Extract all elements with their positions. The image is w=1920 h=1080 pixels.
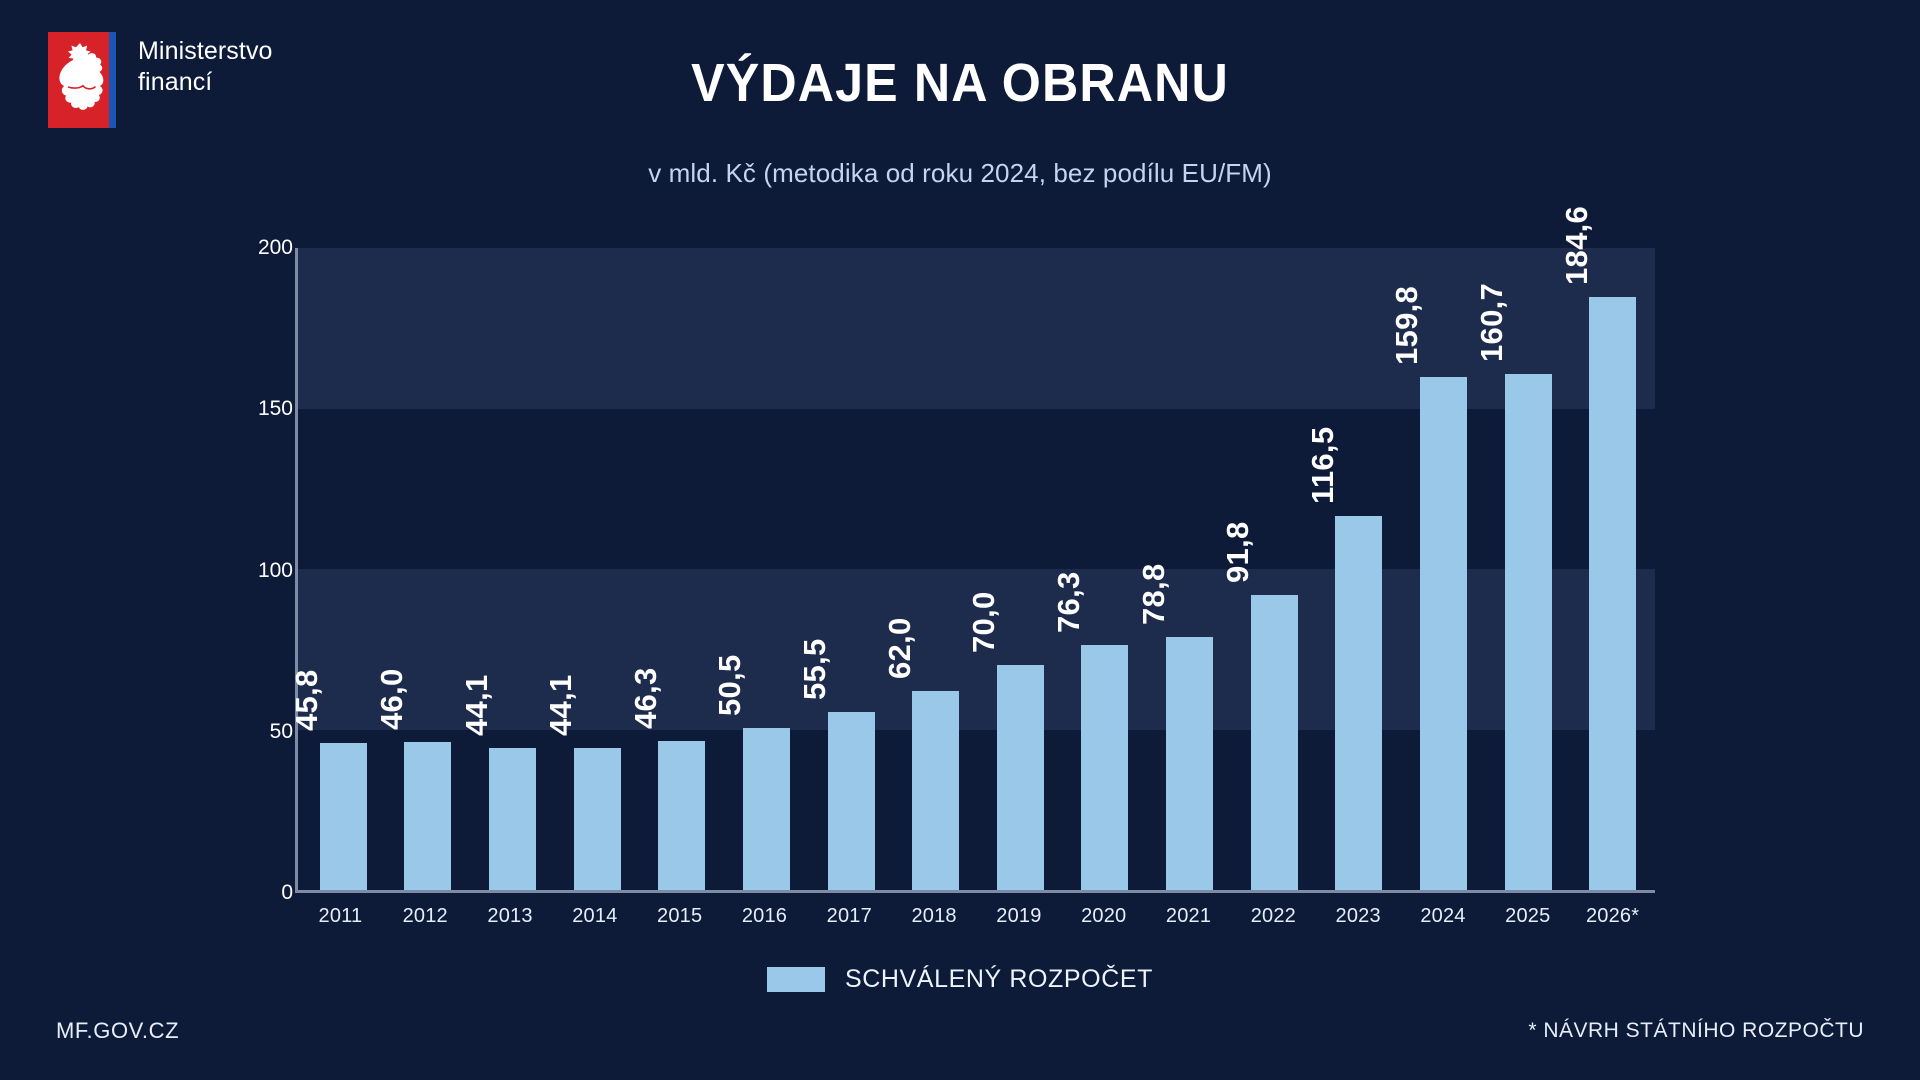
- bar[interactable]: 44,1: [489, 748, 536, 890]
- bar-value-label: 50,5: [730, 685, 766, 747]
- bar-slot: 91,8: [1232, 248, 1317, 890]
- chart-legend: SCHVÁLENÝ ROZPOČET: [0, 965, 1920, 994]
- bar[interactable]: 46,0: [404, 742, 451, 890]
- bar-value-label: 78,8: [1154, 594, 1190, 656]
- bar-value-label: 55,5: [815, 669, 851, 731]
- x-axis-tick: 2016: [722, 905, 807, 928]
- bar[interactable]: 62,0: [912, 691, 959, 890]
- bar-value-label: 46,0: [392, 700, 428, 762]
- plot-area: 45,846,044,144,146,350,555,562,070,076,3…: [295, 248, 1655, 893]
- bar-value-label: 70,0: [984, 623, 1020, 685]
- bar[interactable]: 184,6: [1589, 297, 1636, 890]
- x-axis-tick: 2018: [892, 905, 977, 928]
- chart-plot: 45,846,044,144,146,350,555,562,070,076,3…: [295, 248, 1655, 893]
- bar-slot: 46,0: [386, 248, 471, 890]
- bar-series: 45,846,044,144,146,350,555,562,070,076,3…: [301, 248, 1655, 890]
- x-axis-labels: 2011201220132014201520162017201820192020…: [298, 905, 1655, 928]
- bar-value-label: 45,8: [307, 700, 343, 762]
- bar[interactable]: 160,7: [1505, 374, 1552, 890]
- legend-label: SCHVÁLENÝ ROZPOČET: [845, 965, 1153, 994]
- bar[interactable]: 116,5: [1335, 516, 1382, 890]
- bar-value-label: 91,8: [1238, 553, 1274, 615]
- page-subtitle: v mld. Kč (metodika od roku 2024, bez po…: [0, 158, 1920, 189]
- x-axis-tick: 2014: [552, 905, 637, 928]
- bar[interactable]: 45,8: [320, 743, 367, 890]
- bar-slot: 62,0: [893, 248, 978, 890]
- bar[interactable]: 78,8: [1166, 637, 1213, 890]
- bar-value-label: 116,5: [1323, 465, 1359, 542]
- defense-spending-chart-slide: Ministerstvo financí VÝDAJE NA OBRANU v …: [0, 0, 1920, 1080]
- footer-website: MF.GOV.CZ: [56, 1018, 179, 1044]
- y-axis-tick: 0: [281, 881, 293, 905]
- bar-slot: 184,6: [1570, 248, 1655, 890]
- bar-value-label: 76,3: [1069, 602, 1105, 664]
- bar[interactable]: 159,8: [1420, 377, 1467, 890]
- bar-value-label: 160,7: [1492, 323, 1528, 402]
- bar[interactable]: 91,8: [1251, 595, 1298, 890]
- bar[interactable]: 70,0: [997, 665, 1044, 890]
- x-axis-tick: 2025: [1485, 905, 1570, 928]
- bar[interactable]: 76,3: [1081, 645, 1128, 890]
- bar[interactable]: 44,1: [574, 748, 621, 890]
- page-title: VÝDAJE NA OBRANU: [67, 52, 1853, 114]
- bar-value-label: 44,1: [477, 706, 513, 768]
- bar-slot: 160,7: [1486, 248, 1571, 890]
- x-axis-tick: 2015: [637, 905, 722, 928]
- bar-slot: 46,3: [640, 248, 725, 890]
- bar-value-label: 44,1: [561, 706, 597, 768]
- bar[interactable]: 46,3: [658, 741, 705, 890]
- bar-value-label: 159,8: [1407, 326, 1443, 405]
- bar-slot: 44,1: [555, 248, 640, 890]
- x-axis-tick: 2017: [807, 905, 892, 928]
- x-axis-tick: 2012: [383, 905, 468, 928]
- x-axis-tick: 2024: [1401, 905, 1486, 928]
- bar-slot: 45,8: [301, 248, 386, 890]
- y-axis-tick: 100: [258, 559, 293, 583]
- bar-value-label: 62,0: [900, 648, 936, 710]
- footer-note: * NÁVRH STÁTNÍHO ROZPOČTU: [1528, 1019, 1864, 1043]
- bar-value-label: 46,3: [646, 699, 682, 761]
- x-axis-tick: 2019: [977, 905, 1062, 928]
- y-axis-tick: 150: [258, 397, 293, 421]
- x-axis-tick: 2020: [1061, 905, 1146, 928]
- bar[interactable]: 50,5: [743, 728, 790, 890]
- bar-value-label: 184,6: [1577, 246, 1613, 325]
- x-axis-tick: 2023: [1316, 905, 1401, 928]
- x-axis-tick: 2021: [1146, 905, 1231, 928]
- bar[interactable]: 55,5: [828, 712, 875, 890]
- x-axis-tick: 2011: [298, 905, 383, 928]
- x-axis-tick: 2013: [468, 905, 553, 928]
- legend-swatch: [767, 967, 825, 992]
- y-axis-labels: 050100150200: [245, 248, 293, 893]
- bar-slot: 55,5: [809, 248, 894, 890]
- bar-slot: 76,3: [1063, 248, 1148, 890]
- x-axis-tick: 2026*: [1570, 905, 1655, 928]
- y-axis-tick: 200: [258, 236, 293, 260]
- x-axis-tick: 2022: [1231, 905, 1316, 928]
- bar-slot: 50,5: [724, 248, 809, 890]
- bar-slot: 44,1: [470, 248, 555, 890]
- bar-slot: 70,0: [978, 248, 1063, 890]
